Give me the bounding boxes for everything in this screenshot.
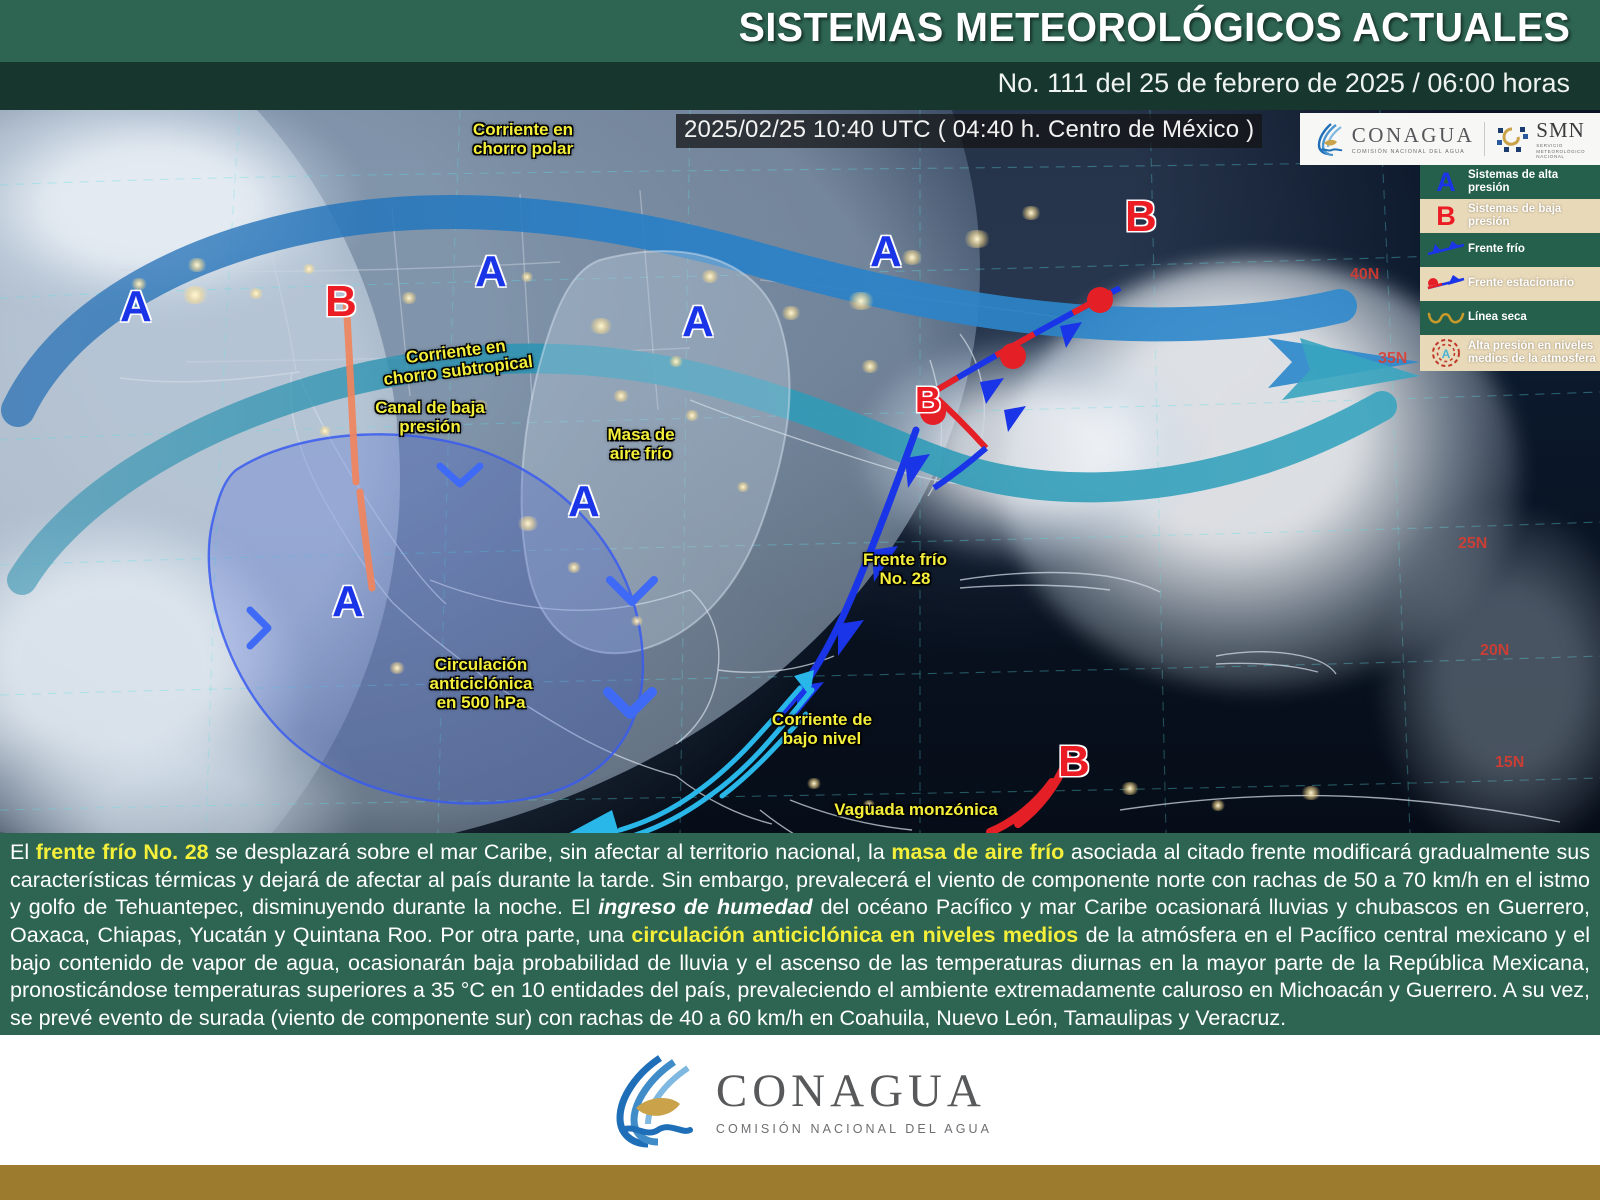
city-light	[180, 286, 210, 304]
footer-logo-text: CONAGUA	[716, 1064, 992, 1118]
cold-front-icon	[1424, 241, 1468, 259]
forecast-text-segment: El	[10, 840, 36, 864]
city-light	[1020, 206, 1042, 220]
legend-item-stationary-front: Frente estacionario	[1420, 267, 1600, 301]
conagua-water-eagle-icon	[1315, 122, 1345, 156]
annotation-cold-air-mass: Masa de aire frío	[586, 425, 696, 463]
lat-label-40n: 40N	[1350, 266, 1379, 284]
smn-spiral-icon	[1495, 123, 1529, 155]
legend-item-low-pressure: B Sistemas de baja presión	[1420, 199, 1600, 233]
forecast-text-segment: ingreso de humedad	[598, 895, 812, 919]
annotation-low-pressure-channel: Canal de baja presión	[356, 398, 504, 436]
forecast-paragraph: El frente frío No. 28 se desplazará sobr…	[0, 833, 1600, 1032]
satellite-timestamp: 2025/02/25 10:40 UTC ( 04:40 h. Centro d…	[676, 114, 1262, 148]
legend-label: Sistemas de alta presión	[1468, 169, 1596, 195]
annotation-cold-front-28: Frente frío No. 28	[846, 550, 964, 588]
footer-logo-subtext: COMISIÓN NACIONAL DEL AGUA	[716, 1122, 992, 1136]
city-light	[900, 250, 924, 265]
stationary-front-icon	[1424, 275, 1468, 293]
low-pressure-symbol-b: B	[325, 280, 357, 324]
conagua-logo-subtext: COMISIÓN NACIONAL DEL AGUA	[1352, 149, 1475, 155]
city-light	[520, 272, 534, 282]
cold-front-gulf-barb	[1004, 406, 1026, 432]
low-pressure-b-icon: B	[1424, 203, 1468, 230]
conagua-logo-text: CONAGUA	[1352, 123, 1475, 148]
high-pressure-symbol-a: A	[870, 230, 902, 274]
high-pressure-symbol-a: A	[682, 300, 714, 344]
city-light	[668, 356, 684, 367]
annotation-low-level-jet: Corriente de bajo nivel	[762, 710, 882, 748]
high-pressure-symbol-a: A	[568, 480, 600, 524]
high-pressure-symbol-a: A	[120, 285, 152, 329]
city-light	[588, 318, 614, 334]
city-light	[388, 662, 406, 674]
smn-logo-text: SMN	[1536, 118, 1585, 143]
forecast-text-segment: circulación anticiclónica en niveles med…	[631, 923, 1078, 947]
city-light	[780, 306, 802, 320]
low-pressure-symbol-b: B	[1125, 195, 1157, 239]
city-light	[248, 288, 264, 299]
city-light	[684, 410, 700, 421]
lat-label-35n: 35N	[1378, 350, 1407, 368]
legend-label: Frente estacionario	[1468, 277, 1574, 290]
city-light	[1300, 786, 1322, 800]
high-pressure-a-icon: A	[1424, 169, 1468, 196]
smn-logo-subtext: SERVICIOMETEOROLÓGICONACIONAL	[1536, 143, 1585, 160]
city-light	[318, 426, 332, 436]
conagua-footer-water-eagle-icon	[608, 1052, 700, 1148]
map-legend: A Sistemas de alta presión B Sistemas de…	[1420, 165, 1600, 371]
low-pressure-symbol-b: B	[915, 382, 941, 418]
city-light	[1120, 782, 1140, 795]
satellite-map: 40N 35N 25N 20N 15N 10N A B A A A A B B …	[0, 110, 1600, 833]
legend-label: Alta presión en niveles medios de la atm…	[1468, 340, 1596, 366]
logo-divider	[1484, 122, 1485, 156]
legend-item-high-pressure: A Sistemas de alta presión	[1420, 165, 1600, 199]
low-level-jet-arrowhead	[560, 810, 622, 833]
city-light	[516, 516, 540, 531]
forecast-text-segment: frente frío No. 28	[36, 840, 209, 864]
city-light	[846, 292, 876, 310]
city-light	[612, 390, 630, 402]
lat-label-20n: 20N	[1480, 642, 1509, 660]
svg-text:A: A	[1442, 347, 1451, 361]
city-light	[1210, 800, 1226, 811]
legend-item-dry-line: Línea seca	[1420, 301, 1600, 335]
forecast-text-segment: masa de aire frío	[891, 840, 1064, 864]
legend-label: Línea seca	[1468, 311, 1527, 324]
lat-label-25n: 25N	[1458, 535, 1487, 553]
mid-level-high-icon: A	[1424, 338, 1468, 368]
bulletin-number-date: No. 111 del 25 de febrero de 2025 / 06:0…	[998, 68, 1570, 99]
lat-label-15n: 15N	[1495, 754, 1524, 772]
city-light	[302, 264, 316, 274]
city-light	[962, 230, 992, 248]
legend-label: Sistemas de baja presión	[1468, 203, 1596, 229]
legend-label: Frente frío	[1468, 243, 1525, 256]
footer-gold-bar	[0, 1165, 1600, 1200]
dry-line-icon	[1424, 309, 1468, 327]
footer-logo: CONAGUA COMISIÓN NACIONAL DEL AGUA	[0, 1035, 1600, 1165]
city-light	[860, 360, 880, 373]
weather-bulletin-page: SISTEMAS METEOROLÓGICOS ACTUALES No. 111…	[0, 0, 1600, 1200]
city-light	[630, 616, 644, 626]
high-pressure-symbol-a: A	[475, 250, 507, 294]
city-light	[700, 270, 720, 283]
city-light	[806, 778, 822, 789]
forecast-text-segment: se desplazará sobre el mar Caribe, sin a…	[209, 840, 892, 864]
high-pressure-symbol-a: A	[332, 580, 364, 624]
city-light	[186, 258, 208, 272]
annotation-anticyclonic-circulation: Circulación anticiclónica en 500 hPa	[408, 655, 554, 712]
legend-item-mid-level-high: A Alta presión en niveles medios de la a…	[1420, 335, 1600, 371]
smn-logo: SMN SERVICIOMETEOROLÓGICONACIONAL	[1495, 118, 1585, 160]
logo-strip: CONAGUA COMISIÓN NACIONAL DEL AGUA SMN S…	[1300, 113, 1600, 165]
legend-item-cold-front: Frente frío	[1420, 233, 1600, 267]
city-light	[566, 562, 582, 573]
conagua-logo: CONAGUA COMISIÓN NACIONAL DEL AGUA	[1315, 122, 1475, 156]
city-light	[736, 482, 750, 492]
forecast-text-panel: El frente frío No. 28 se desplazará sobr…	[0, 833, 1600, 1035]
low-pressure-symbol-b: B	[1058, 740, 1090, 784]
page-title: SISTEMAS METEOROLÓGICOS ACTUALES	[738, 4, 1570, 51]
annotation-monsoon-trough: Vaguada monzónica	[828, 800, 1004, 819]
annotation-polar-jet: Corriente en chorro polar	[448, 120, 598, 158]
city-light	[400, 292, 418, 304]
